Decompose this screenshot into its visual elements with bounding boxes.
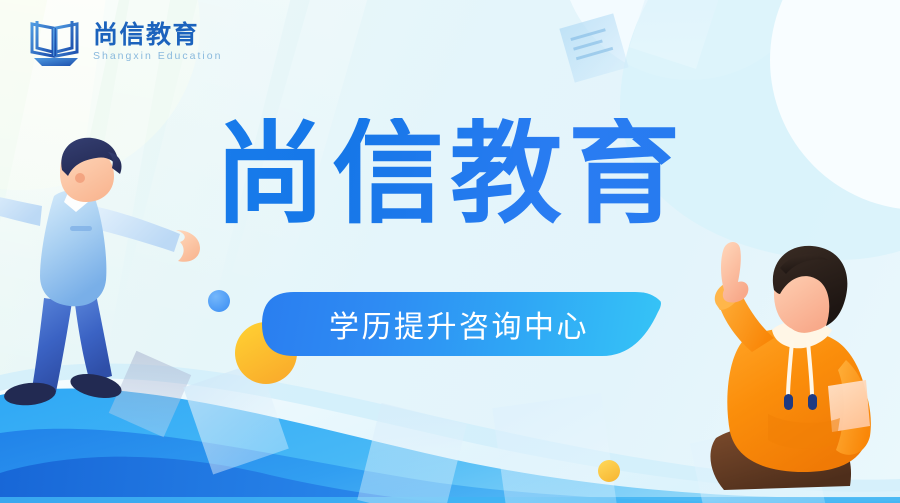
brand-name-en: Shangxin Education [93,51,222,62]
blue-dot-decoration [208,290,230,312]
brand-name-cn: 尚信教育 [93,22,222,48]
page-title: 尚信教育 [0,118,900,230]
brand-text: 尚信教育 Shangxin Education [93,22,222,62]
brand-logo[interactable]: 尚信教育 Shangxin Education [28,16,222,68]
open-book-icon [28,16,84,68]
yellow-dot-decoration [598,460,620,482]
subtitle-pill[interactable]: 学历提升咨询中心 [262,292,670,356]
subtitle-text: 学历提升咨询中心 [329,302,589,346]
right-person-illustration [680,238,900,503]
background-blob-top [560,0,820,80]
education-banner: 尚信教育 Shangxin Education 尚信教育 学历提升咨询中心 [0,0,900,503]
floating-paper [559,13,628,82]
floating-paper [629,0,720,69]
